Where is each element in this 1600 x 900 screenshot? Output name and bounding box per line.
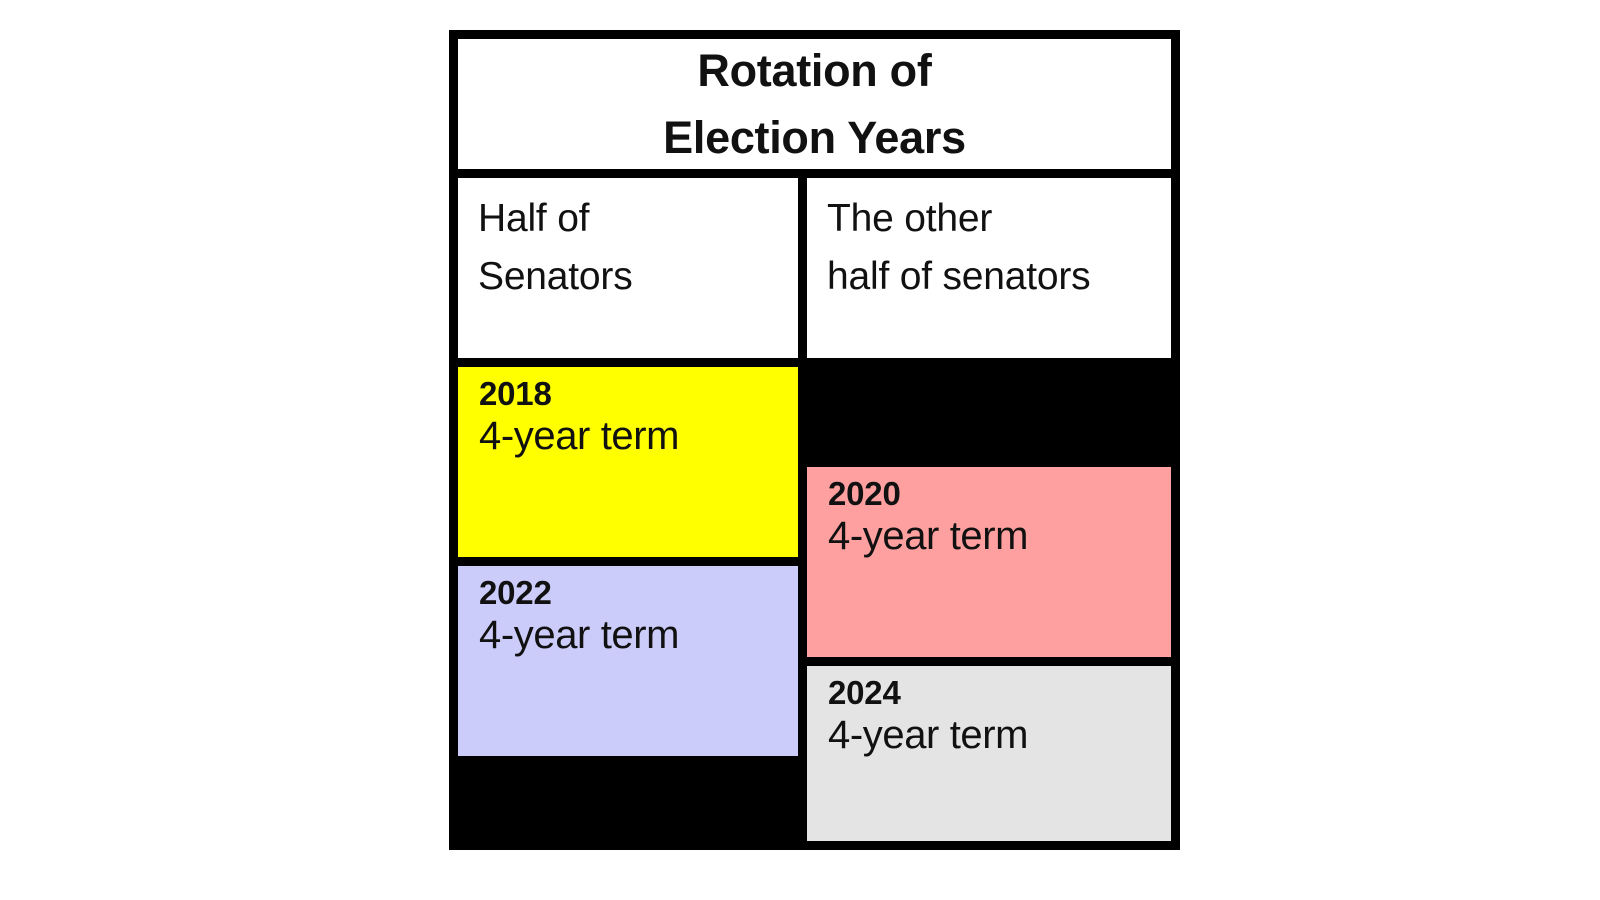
term-length-2024: 4-year term	[828, 713, 1171, 757]
column-header-half-of-senators: Half of Senators	[458, 178, 798, 358]
diagram-title-line-1: Rotation of	[697, 37, 931, 105]
term-year-2024: 2024	[828, 674, 1171, 713]
term-block-2024: 2024 4-year term	[807, 666, 1171, 841]
term-length-2020: 4-year term	[828, 514, 1171, 558]
term-block-2022: 2022 4-year term	[458, 566, 798, 756]
term-block-2018: 2018 4-year term	[458, 367, 798, 557]
term-length-2022: 4-year term	[479, 613, 798, 657]
column-header-other-half-of-senators: The other half of senators	[807, 178, 1171, 358]
term-blocks: 2018 4-year term 2022 4-year term 2020 4…	[458, 367, 1171, 841]
term-year-2018: 2018	[479, 375, 798, 414]
diagram-title: Rotation of Election Years	[458, 39, 1171, 169]
column-header-label: Half of Senators	[478, 190, 798, 305]
term-length-2018: 4-year term	[479, 414, 798, 458]
diagram-title-line-2: Election Years	[663, 104, 966, 172]
term-block-empty-right	[807, 367, 1171, 458]
rotation-of-election-years-diagram: Rotation of Election Years Half of Senat…	[449, 30, 1180, 850]
term-block-2020: 2020 4-year term	[807, 467, 1171, 657]
column-header-label: The other half of senators	[827, 190, 1171, 305]
term-block-empty-left	[458, 765, 798, 841]
term-year-2020: 2020	[828, 475, 1171, 514]
term-year-2022: 2022	[479, 574, 798, 613]
column-headers: Half of Senators The other half of senat…	[458, 178, 1171, 358]
